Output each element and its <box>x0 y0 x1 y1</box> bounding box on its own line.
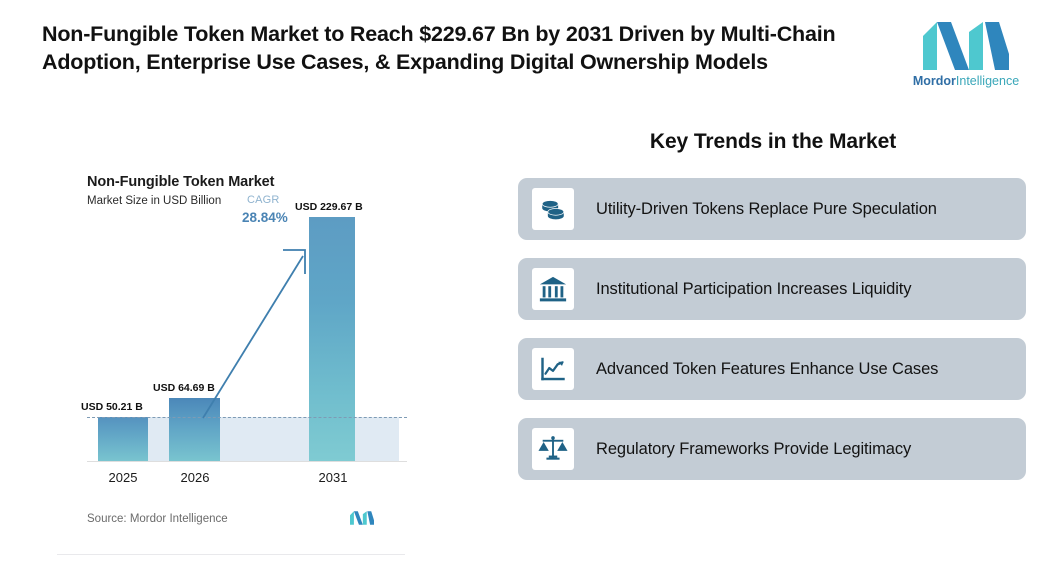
chart-card: Non-Fungible Token Market Market Size in… <box>30 155 420 565</box>
cagr-label: CAGR <box>247 194 280 206</box>
trend-label-3: Advanced Token Features Enhance Use Case… <box>596 358 938 380</box>
mordor-intelligence-logo-icon <box>923 22 1009 70</box>
page-header: Non-Fungible Token Market to Reach $229.… <box>0 0 1054 120</box>
brand-logo: MordorIntelligence <box>905 22 1027 102</box>
trend-card-2[interactable]: Institutional Participation Increases Li… <box>518 258 1026 320</box>
balance-scales-icon <box>532 428 574 470</box>
chart-card-divider <box>57 554 405 555</box>
brand-wordmark: MordorIntelligence <box>905 74 1027 88</box>
x-tick-2031: 2031 <box>301 470 365 485</box>
key-trends-panel: Key Trends in the Market Utility-Driven … <box>518 130 1028 560</box>
trend-card-4[interactable]: Regulatory Frameworks Provide Legitimacy <box>518 418 1026 480</box>
source-logo-icon <box>350 510 374 526</box>
chart-source: Source: Mordor Intelligence <box>87 513 228 525</box>
brand-word-secondary: Intelligence <box>956 74 1019 88</box>
line-chart-growth-icon <box>532 348 574 390</box>
chart-subtitle: Market Size in USD Billion <box>87 195 221 207</box>
page-title: Non-Fungible Token Market to Reach $229.… <box>42 20 862 76</box>
trend-label-1: Utility-Driven Tokens Replace Pure Specu… <box>596 198 937 220</box>
chart-title: Non-Fungible Token Market <box>87 174 274 190</box>
chart-plot-area: USD 50.21 B USD 64.69 B USD 229.67 B CAG… <box>87 230 407 483</box>
brand-word-primary: Mordor <box>913 74 956 88</box>
coins-stack-icon <box>532 188 574 230</box>
trend-card-1[interactable]: Utility-Driven Tokens Replace Pure Specu… <box>518 178 1026 240</box>
cagr-value: 28.84% <box>242 210 288 225</box>
x-tick-2025: 2025 <box>91 470 155 485</box>
bank-institution-icon <box>532 268 574 310</box>
bar-value-label-2031: USD 229.67 B <box>295 201 363 213</box>
trend-card-3[interactable]: Advanced Token Features Enhance Use Case… <box>518 338 1026 400</box>
trend-label-4: Regulatory Frameworks Provide Legitimacy <box>596 438 911 460</box>
growth-arrow-icon <box>87 230 407 483</box>
key-trends-title: Key Trends in the Market <box>518 130 1028 154</box>
x-tick-2026: 2026 <box>163 470 227 485</box>
trend-label-2: Institutional Participation Increases Li… <box>596 278 911 300</box>
